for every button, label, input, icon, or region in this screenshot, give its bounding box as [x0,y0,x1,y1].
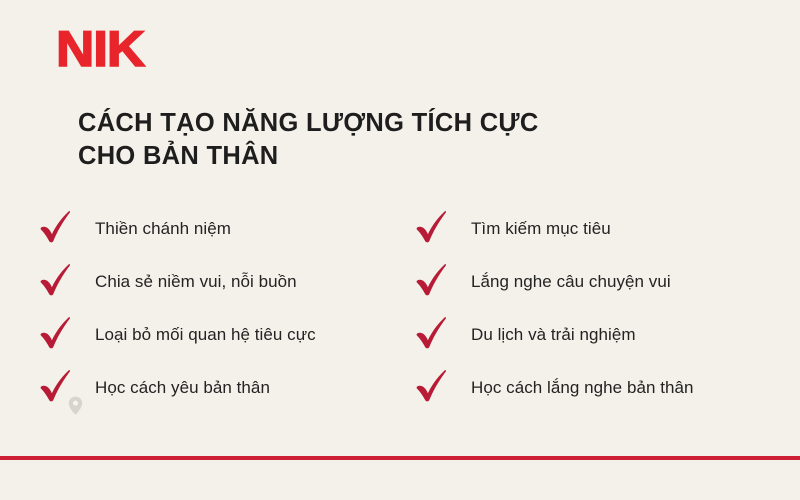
check-icon [38,313,74,353]
list-item: Du lịch và trải nghiệm [414,308,794,361]
map-pin-icon [68,396,83,415]
page-title-line-2: CHO BẢN THÂN [78,140,738,173]
list-item: Học cách yêu bản thân [38,361,408,414]
list-item-label: Chia sẻ niềm vui, nỗi buồn [74,271,297,293]
list-item: Loại bỏ mối quan hệ tiêu cực [38,308,408,361]
check-icon [38,207,74,247]
list-item: Chia sẻ niềm vui, nỗi buồn [38,255,408,308]
list-item: Học cách lắng nghe bản thân [414,361,794,414]
check-icon [414,260,450,300]
list-item-label: Tìm kiếm mục tiêu [450,218,611,240]
list-item-label: Loại bỏ mối quan hệ tiêu cực [74,324,316,346]
checklist-right-column: Tìm kiếm mục tiêu Lắng nghe câu chuyện v… [414,202,794,414]
bottom-divider [0,456,800,460]
poster-canvas: NIK CÁCH TẠO NĂNG LƯỢNG TÍCH CỰC CHO BẢN… [0,0,800,500]
list-item: Thiền chánh niệm [38,202,408,255]
check-icon [414,207,450,247]
list-item: Lắng nghe câu chuyện vui [414,255,794,308]
list-item-label: Lắng nghe câu chuyện vui [450,271,671,293]
page-title-line-1: CÁCH TẠO NĂNG LƯỢNG TÍCH CỰC [78,107,738,140]
list-item-label: Du lịch và trải nghiệm [450,324,636,346]
page-title: CÁCH TẠO NĂNG LƯỢNG TÍCH CỰC CHO BẢN THÂ… [78,107,738,173]
list-item: Tìm kiếm mục tiêu [414,202,794,255]
check-icon [38,260,74,300]
list-item-label: Thiền chánh niệm [74,218,231,240]
checklist-left-column: Thiền chánh niệm Chia sẻ niềm vui, nỗi b… [38,202,408,414]
brand-logo: NIK [56,24,144,74]
list-item-label: Học cách lắng nghe bản thân [450,377,694,399]
check-icon [414,366,450,406]
check-icon [414,313,450,353]
list-item-label: Học cách yêu bản thân [74,377,270,399]
